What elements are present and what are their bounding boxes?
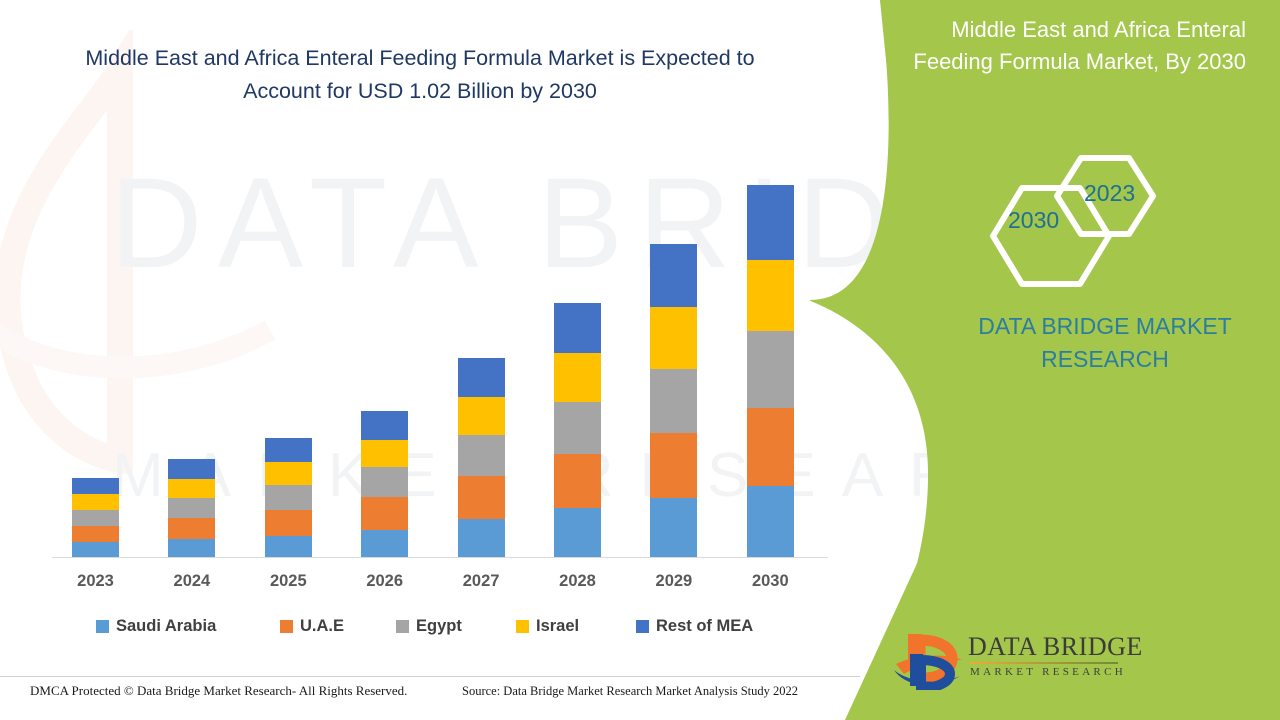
company-logo: DATA BRIDGE MARKET RESEARCH <box>890 630 1120 692</box>
x-axis-label-2025: 2025 <box>248 572 328 591</box>
legend-item-saudi-arabia[interactable]: Saudi Arabia <box>96 617 216 636</box>
bar-column-2026 <box>361 411 408 558</box>
legend-swatch-icon <box>636 620 649 633</box>
logo-divider <box>970 662 1118 664</box>
legend-label: Egypt <box>416 617 462 636</box>
legend-label: Saudi Arabia <box>116 617 216 636</box>
x-axis-label-2029: 2029 <box>634 572 714 591</box>
chart-legend: Saudi ArabiaU.A.EEgyptIsraelRest of MEA <box>96 617 796 641</box>
x-axis-labels: 20232024202520262027202820292030 <box>52 572 832 598</box>
bar-column-2028 <box>554 303 601 558</box>
bar-segment-u-a-e-2025 <box>265 510 312 536</box>
bar-segment-u-a-e-2024 <box>168 518 215 539</box>
bar-segment-saudi-arabia-2027 <box>458 519 505 558</box>
legend-item-israel[interactable]: Israel <box>516 617 579 636</box>
bar-segment-rest-of-mea-2024 <box>168 459 215 479</box>
bar-segment-rest-of-mea-2027 <box>458 358 505 397</box>
bar-segment-rest-of-mea-2029 <box>650 244 697 307</box>
legend-item-egypt[interactable]: Egypt <box>396 617 462 636</box>
bar-column-2030 <box>747 185 794 558</box>
page-title: Middle East and Africa Enteral Feeding F… <box>60 42 780 109</box>
bar-segment-egypt-2023 <box>72 510 119 526</box>
x-axis-label-2030: 2030 <box>730 572 810 591</box>
legend-label: U.A.E <box>300 617 344 636</box>
bar-segment-rest-of-mea-2030 <box>747 185 794 260</box>
bar-segment-egypt-2030 <box>747 331 794 408</box>
bar-segment-saudi-arabia-2029 <box>650 498 697 558</box>
legend-item-u-a-e[interactable]: U.A.E <box>280 617 344 636</box>
bar-segment-rest-of-mea-2028 <box>554 303 601 353</box>
legend-item-rest-of-mea[interactable]: Rest of MEA <box>636 617 753 636</box>
data-bridge-logo-icon <box>890 630 966 690</box>
hexagon-badges: 2023 2030 <box>986 148 1186 288</box>
bar-segment-israel-2026 <box>361 440 408 467</box>
bar-segment-saudi-arabia-2024 <box>168 539 215 558</box>
bar-segment-saudi-arabia-2028 <box>554 508 601 558</box>
bar-column-2024 <box>168 459 215 558</box>
bar-segment-egypt-2029 <box>650 369 697 433</box>
bar-segment-israel-2023 <box>72 494 119 510</box>
brand-name: DATA BRIDGE MARKET RESEARCH <box>940 310 1270 375</box>
bar-segment-israel-2030 <box>747 260 794 331</box>
x-axis-label-2027: 2027 <box>441 572 521 591</box>
bar-segment-saudi-arabia-2026 <box>361 530 408 558</box>
bar-segment-israel-2027 <box>458 397 505 435</box>
x-axis-label-2028: 2028 <box>538 572 618 591</box>
legend-label: Israel <box>536 617 579 636</box>
copyright-notice: DMCA Protected © Data Bridge Market Rese… <box>30 683 407 699</box>
bar-segment-u-a-e-2030 <box>747 408 794 486</box>
hex-year-2023: 2023 <box>1084 180 1135 207</box>
bar-segment-egypt-2028 <box>554 402 601 454</box>
bar-segment-egypt-2025 <box>265 485 312 510</box>
bar-column-2023 <box>72 478 119 558</box>
stacked-bar-chart <box>52 160 832 558</box>
logo-primary-text: DATA BRIDGE <box>968 632 1143 662</box>
bar-segment-saudi-arabia-2030 <box>747 486 794 558</box>
x-axis-line <box>52 557 828 558</box>
legend-swatch-icon <box>96 620 109 633</box>
x-axis-label-2024: 2024 <box>152 572 232 591</box>
legend-swatch-icon <box>280 620 293 633</box>
bar-segment-u-a-e-2028 <box>554 454 601 508</box>
bar-segment-egypt-2027 <box>458 435 505 476</box>
bar-segment-egypt-2026 <box>361 467 408 497</box>
bar-segment-u-a-e-2023 <box>72 526 119 542</box>
bar-segment-u-a-e-2026 <box>361 497 408 530</box>
bar-column-2027 <box>458 358 505 558</box>
bar-segment-israel-2025 <box>265 462 312 485</box>
bar-column-2025 <box>265 438 312 558</box>
panel-title: Middle East and Africa Enteral Feeding F… <box>866 14 1246 78</box>
legend-swatch-icon <box>396 620 409 633</box>
bar-segment-u-a-e-2027 <box>458 476 505 519</box>
bar-segment-rest-of-mea-2025 <box>265 438 312 462</box>
bar-segment-israel-2024 <box>168 479 215 498</box>
bar-segment-israel-2029 <box>650 307 697 369</box>
infographic-canvas: DATA BRIDGE MARKET RESEARCH Middle East … <box>0 0 1280 720</box>
bar-segment-saudi-arabia-2025 <box>265 536 312 558</box>
bar-segment-egypt-2024 <box>168 498 215 518</box>
bar-segment-israel-2028 <box>554 353 601 402</box>
source-notice: Source: Data Bridge Market Research Mark… <box>462 684 798 699</box>
hex-year-2030: 2030 <box>1008 207 1059 234</box>
x-axis-label-2026: 2026 <box>345 572 425 591</box>
legend-swatch-icon <box>516 620 529 633</box>
bar-segment-rest-of-mea-2023 <box>72 478 119 494</box>
footer-divider <box>0 676 860 677</box>
x-axis-label-2023: 2023 <box>56 572 136 591</box>
bar-segment-u-a-e-2029 <box>650 433 697 498</box>
bar-column-2029 <box>650 244 697 558</box>
legend-label: Rest of MEA <box>656 617 753 636</box>
logo-secondary-text: MARKET RESEARCH <box>970 666 1126 678</box>
bar-segment-rest-of-mea-2026 <box>361 411 408 440</box>
bar-segment-saudi-arabia-2023 <box>72 542 119 558</box>
